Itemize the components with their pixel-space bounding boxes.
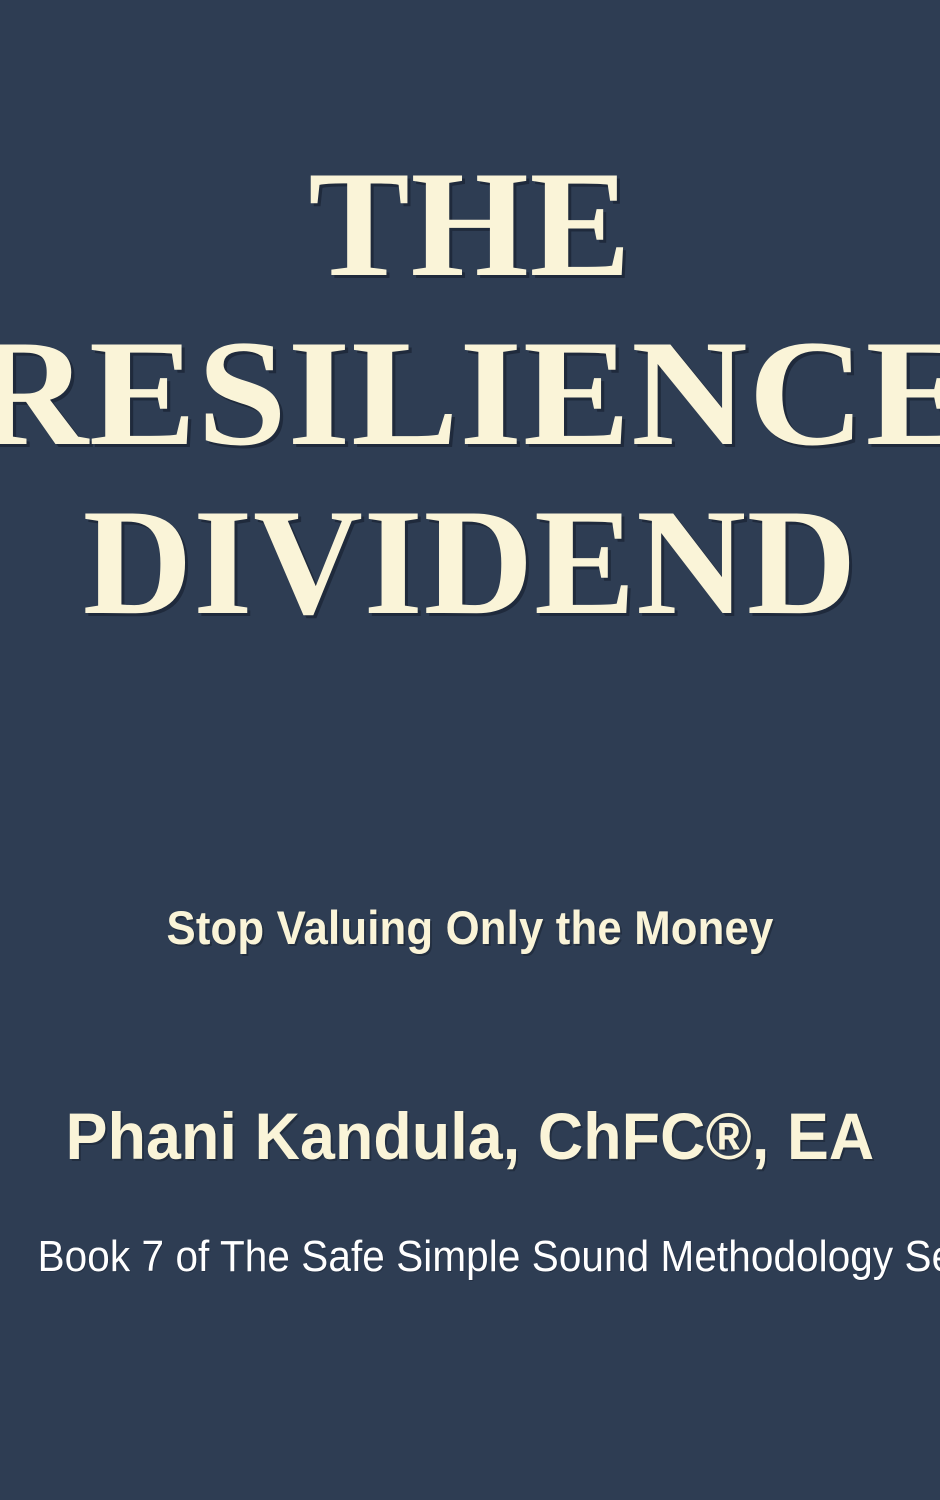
title-line-resilience: RESILIENCE: [0, 319, 940, 468]
title-line-the: THE: [0, 150, 940, 299]
book-subtitle: Stop Valuing Only the Money: [33, 900, 907, 955]
series-line: Book 7 of The Safe Simple Sound Methodol…: [38, 1232, 903, 1282]
title-line-dividend: DIVIDEND: [0, 488, 940, 637]
book-title: THE RESILIENCE DIVIDEND: [0, 150, 940, 637]
author-name: Phani Kandula, ChFC®, EA: [24, 1098, 917, 1174]
book-cover: THE RESILIENCE DIVIDEND Stop Valuing Onl…: [0, 0, 940, 1500]
